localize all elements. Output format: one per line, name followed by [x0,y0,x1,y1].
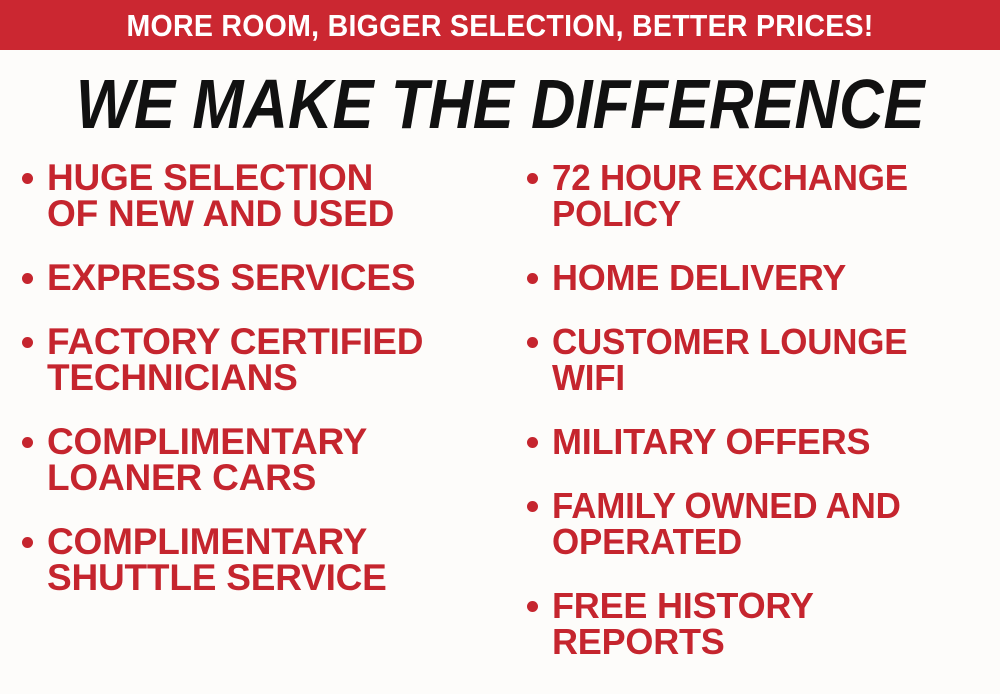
list-item-label: MILITARY OFFERS [552,424,870,460]
bullet-dot-icon [22,273,33,284]
bullet-dot-icon [527,173,538,184]
list-item: FAMILY OWNED AND OPERATED [527,488,1000,560]
promo-banner: MORE ROOM, BIGGER SELECTION, BETTER PRIC… [0,0,1000,694]
list-item: COMPLIMENTARY SHUTTLE SERVICE [22,524,505,596]
list-item-label: CUSTOMER LOUNGE WIFI [552,324,907,396]
bullet-dot-icon [527,337,538,348]
list-item-label: FREE HISTORY REPORTS [552,588,814,660]
list-item-label: COMPLIMENTARY SHUTTLE SERVICE [47,524,387,596]
list-item: CUSTOMER LOUNGE WIFI [527,324,1000,396]
list-item: FACTORY CERTIFIED TECHNICIANS [22,324,505,396]
bullet-dot-icon [527,601,538,612]
feature-column-right: 72 HOUR EXCHANGE POLICY HOME DELIVERY CU… [505,160,1000,688]
list-item: COMPLIMENTARY LOANER CARS [22,424,505,496]
bullet-dot-icon [22,173,33,184]
bullet-dot-icon [527,501,538,512]
header-banner-text: MORE ROOM, BIGGER SELECTION, BETTER PRIC… [126,10,873,41]
list-item: 72 HOUR EXCHANGE POLICY [527,160,1000,232]
list-item: HUGE SELECTION OF NEW AND USED [22,160,505,232]
list-item: HOME DELIVERY [527,260,1000,296]
bullet-dot-icon [527,437,538,448]
page-title-text: WE MAKE THE DIFFERENCE [76,69,925,139]
list-item-label: EXPRESS SERVICES [47,260,415,296]
list-item-label: HUGE SELECTION OF NEW AND USED [47,160,394,232]
list-item-label: FACTORY CERTIFIED TECHNICIANS [47,324,423,396]
feature-columns: HUGE SELECTION OF NEW AND USED EXPRESS S… [0,160,1000,694]
list-item: FREE HISTORY REPORTS [527,588,1000,660]
page-title: WE MAKE THE DIFFERENCE [0,66,1000,142]
list-item-label: 72 HOUR EXCHANGE POLICY [552,160,908,232]
list-item: MILITARY OFFERS [527,424,1000,460]
list-item-label: COMPLIMENTARY LOANER CARS [47,424,367,496]
bullet-dot-icon [22,437,33,448]
feature-column-left: HUGE SELECTION OF NEW AND USED EXPRESS S… [0,160,505,624]
bullet-dot-icon [22,537,33,548]
list-item: EXPRESS SERVICES [22,260,505,296]
list-item-label: FAMILY OWNED AND OPERATED [552,488,901,560]
bullet-dot-icon [527,273,538,284]
list-item-label: HOME DELIVERY [552,260,846,296]
header-banner-bar: MORE ROOM, BIGGER SELECTION, BETTER PRIC… [0,0,1000,50]
bullet-dot-icon [22,337,33,348]
